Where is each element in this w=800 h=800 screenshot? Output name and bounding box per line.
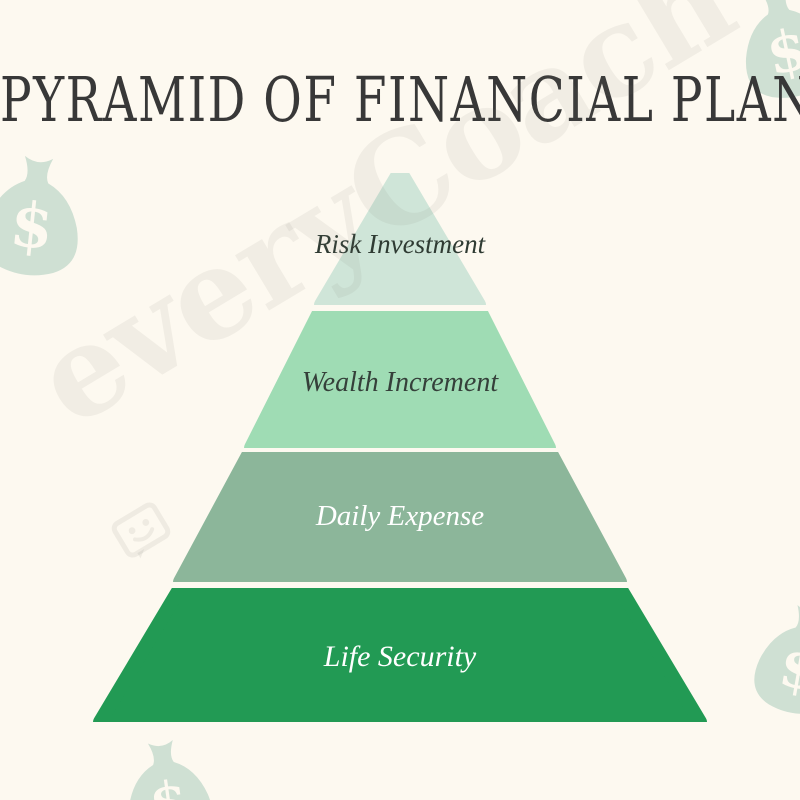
page-title: PYRAMID OF FINANCIAL PLAN [0, 64, 800, 137]
pyramid-level-wealth-increment[interactable]: Wealth Increment [0, 311, 800, 448]
pyramid-level-2-label: Wealth Increment [0, 367, 800, 399]
pyramid-level-1-label: Risk Investment [0, 229, 800, 260]
poster-canvas: $$$$ PYRAMID OF FINANCIAL PLAN Risk Inve… [0, 0, 800, 800]
pyramid-level-daily-expense[interactable]: Daily Expense [0, 452, 800, 582]
pyramid-level-life-security[interactable]: Life Security [0, 588, 800, 722]
pyramid-level-3-label: Daily Expense [0, 500, 800, 533]
pyramid-level-4-label: Life Security [0, 640, 800, 674]
pyramid-level-risk-investment[interactable]: Risk Investment [0, 173, 800, 305]
